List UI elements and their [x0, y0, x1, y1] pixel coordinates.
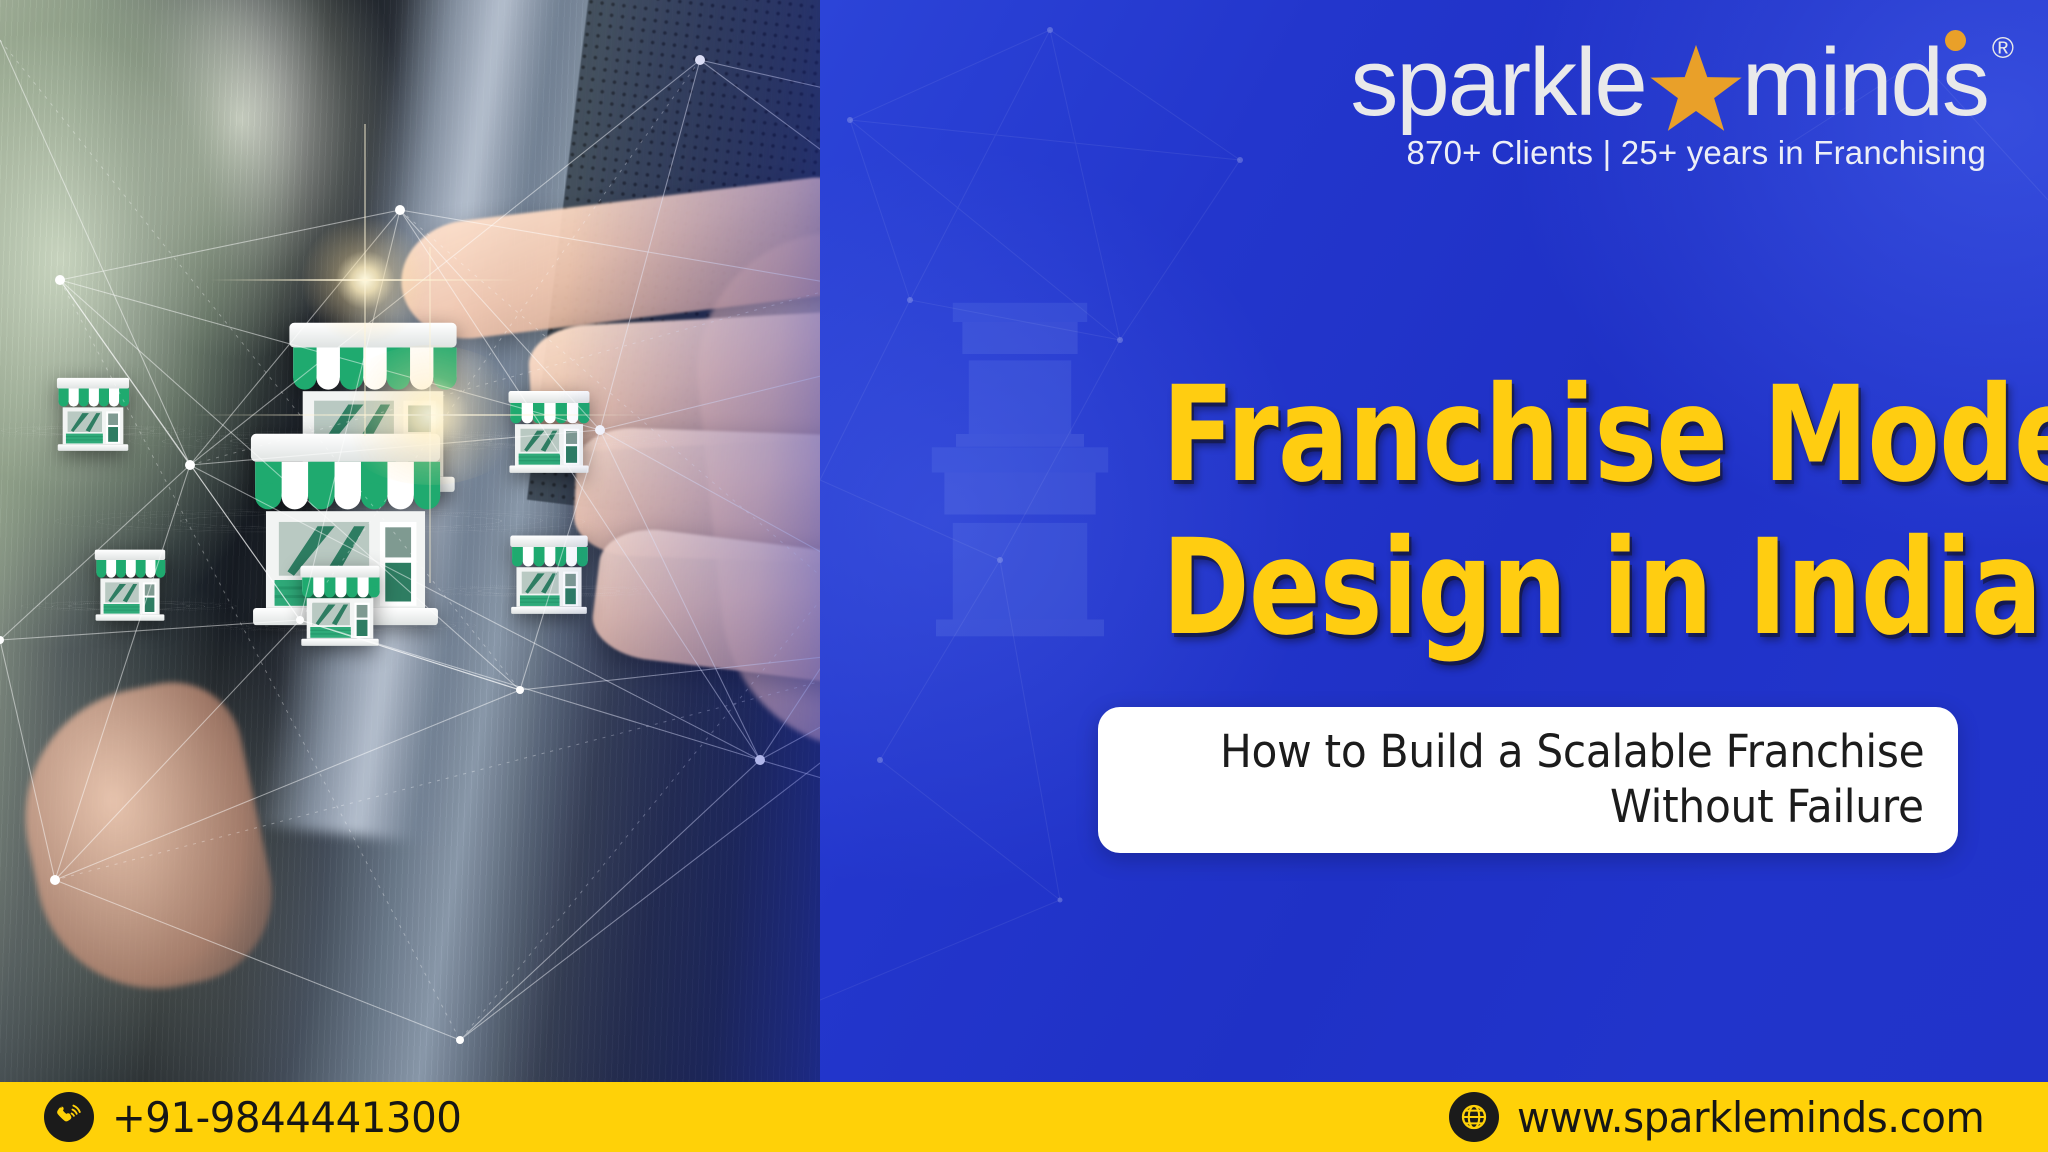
logo-word-minds: minds: [1742, 34, 1988, 132]
brand-logo[interactable]: sparkle minds ® 870+ Clients | 25+ years…: [1112, 34, 2012, 172]
headline-line-1: Franchise Model: [1162, 368, 2010, 503]
headline-line-2: Design in India:: [1162, 521, 2010, 656]
footer-phone-number: +91-9844441300: [112, 1093, 461, 1142]
subtitle-card: How to Build a Scalable Franchise Withou…: [1098, 707, 1958, 853]
footer-phone-item[interactable]: +91-9844441300: [44, 1092, 476, 1142]
subtitle-line-2: Without Failure: [1610, 780, 1924, 835]
subtitle-line-1: How to Build a Scalable Franchise: [1220, 725, 1924, 780]
poster-canvas: sparkle minds ® 870+ Clients | 25+ years…: [0, 0, 2048, 1152]
footer-website-item[interactable]: www.sparkleminds.com: [1449, 1092, 2004, 1142]
contact-footer-bar: +91-9844441300 www.sparkleminds.com: [0, 1082, 2048, 1152]
logo-word-sparkle: sparkle: [1350, 34, 1645, 132]
registered-trademark-icon: ®: [1992, 34, 2012, 65]
logo-wordmark: sparkle minds ®: [1112, 34, 2012, 132]
logo-i-dot: [1945, 30, 1966, 51]
page-title: Franchise Model Design in India:: [950, 368, 2010, 655]
brand-tagline: 870+ Clients | 25+ years in Franchising: [1112, 134, 2012, 172]
star-icon: [1648, 43, 1744, 135]
globe-icon: [1449, 1092, 1499, 1142]
phone-call-icon: [44, 1092, 94, 1142]
footer-website-url: www.sparkleminds.com: [1517, 1093, 1984, 1142]
